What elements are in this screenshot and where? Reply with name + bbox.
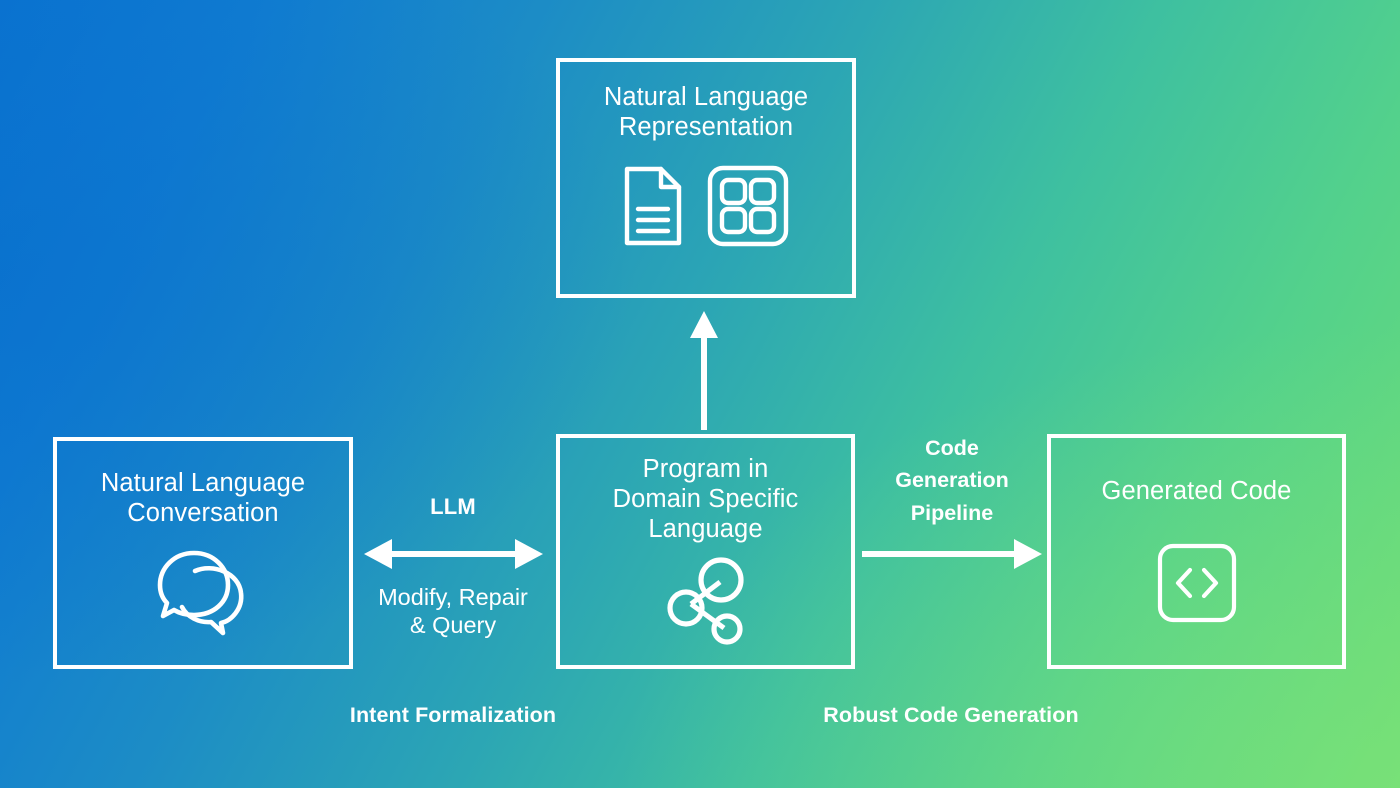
diagram-canvas: Natural Language Representation: [0, 0, 1400, 788]
edge-label-llm: LLM: [353, 494, 553, 520]
arrow-right-dsl-to-generated-code: [862, 539, 1042, 569]
arrow-bidirectional-conversation-dsl: [364, 539, 543, 569]
caption-intent-formalization: Intent Formalization: [253, 703, 653, 728]
diagram-layer: Natural Language Representation: [0, 0, 1400, 788]
caption-robust-code-generation: Robust Code Generation: [751, 703, 1151, 728]
edge-label-code-generation-pipeline: Code Generation Pipeline: [862, 432, 1042, 529]
edge-label-modify-repair-query: Modify, Repair & Query: [353, 583, 553, 639]
arrows-layer: [0, 0, 1400, 788]
arrow-up-dsl-to-representation: [690, 311, 718, 430]
